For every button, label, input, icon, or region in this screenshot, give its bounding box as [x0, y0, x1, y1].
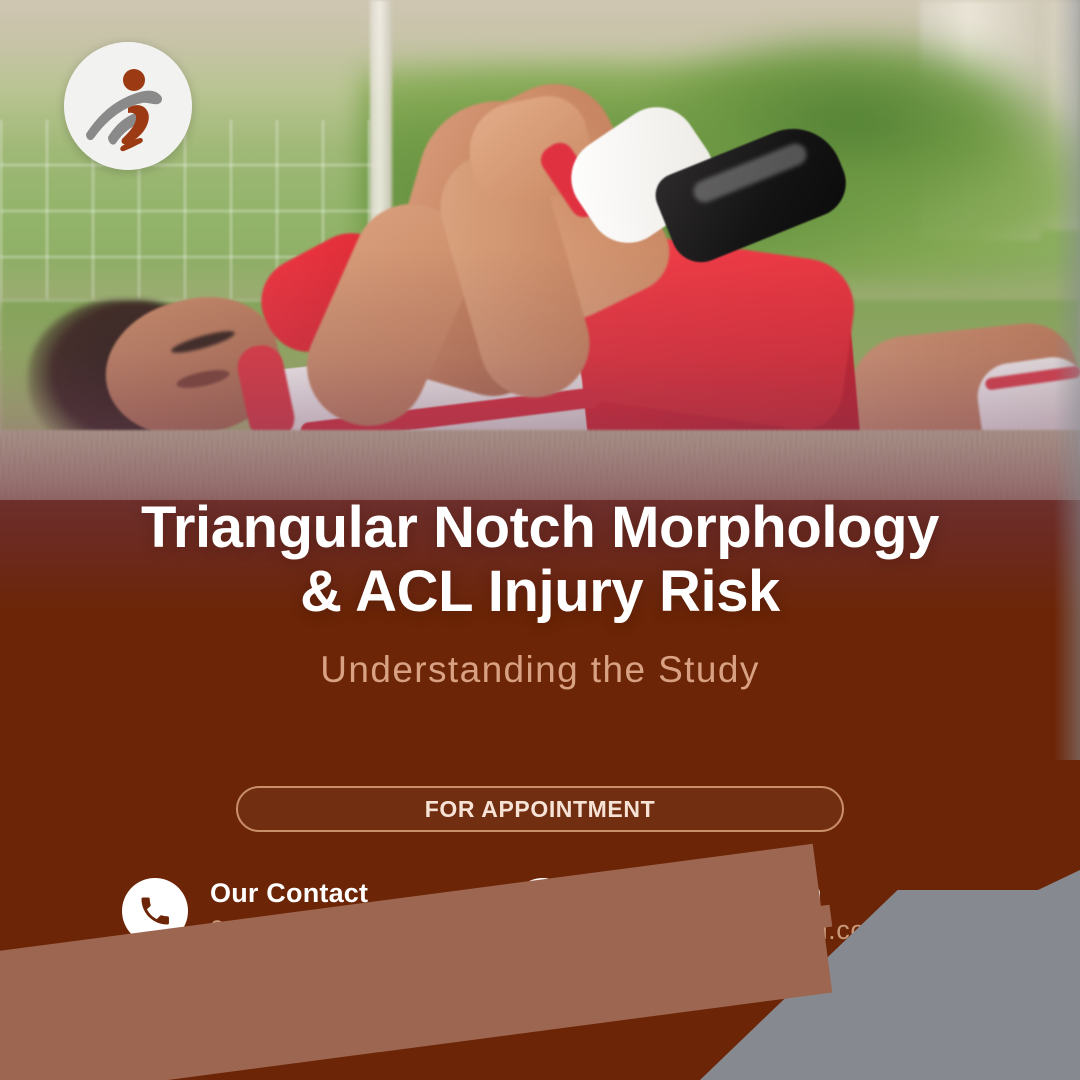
- contact-phone-text: Our Contact 91-88989 75355 91-22-2361913…: [210, 876, 417, 990]
- contact-phone-value-1[interactable]: 91-88989 75355: [210, 910, 417, 950]
- contact-web-text: More Information www.dramynrajani.com: [598, 876, 889, 950]
- poster-canvas: Triangular Notch Morphology & ACL Injury…: [0, 0, 1080, 1080]
- contact-web-value[interactable]: www.dramynrajani.com: [598, 910, 889, 950]
- for-appointment-button[interactable]: FOR APPOINTMENT: [236, 786, 844, 832]
- turf-foreground: [0, 430, 1080, 500]
- running-figure-logo-icon[interactable]: [64, 42, 192, 170]
- headline-line-1: Triangular Notch Morphology: [141, 495, 939, 560]
- contact-phone-label: Our Contact: [210, 876, 417, 910]
- page-subtitle: Understanding the Study: [0, 648, 1080, 692]
- phone-icon: [122, 878, 188, 944]
- contact-phone-value-2[interactable]: 91-22-23619137: [210, 950, 417, 990]
- contact-row: Our Contact 91-88989 75355 91-22-2361913…: [0, 876, 1080, 1006]
- contact-web-block[interactable]: More Information www.dramynrajani.com: [510, 876, 889, 950]
- contact-phone-block[interactable]: Our Contact 91-88989 75355 91-22-2361913…: [122, 876, 417, 990]
- contact-web-label: More Information: [598, 876, 889, 910]
- globe-icon: [510, 878, 576, 944]
- headline-line-2: & ACL Injury Risk: [0, 560, 1080, 624]
- for-appointment-label: FOR APPOINTMENT: [425, 796, 655, 823]
- page-title: Triangular Notch Morphology & ACL Injury…: [0, 496, 1080, 624]
